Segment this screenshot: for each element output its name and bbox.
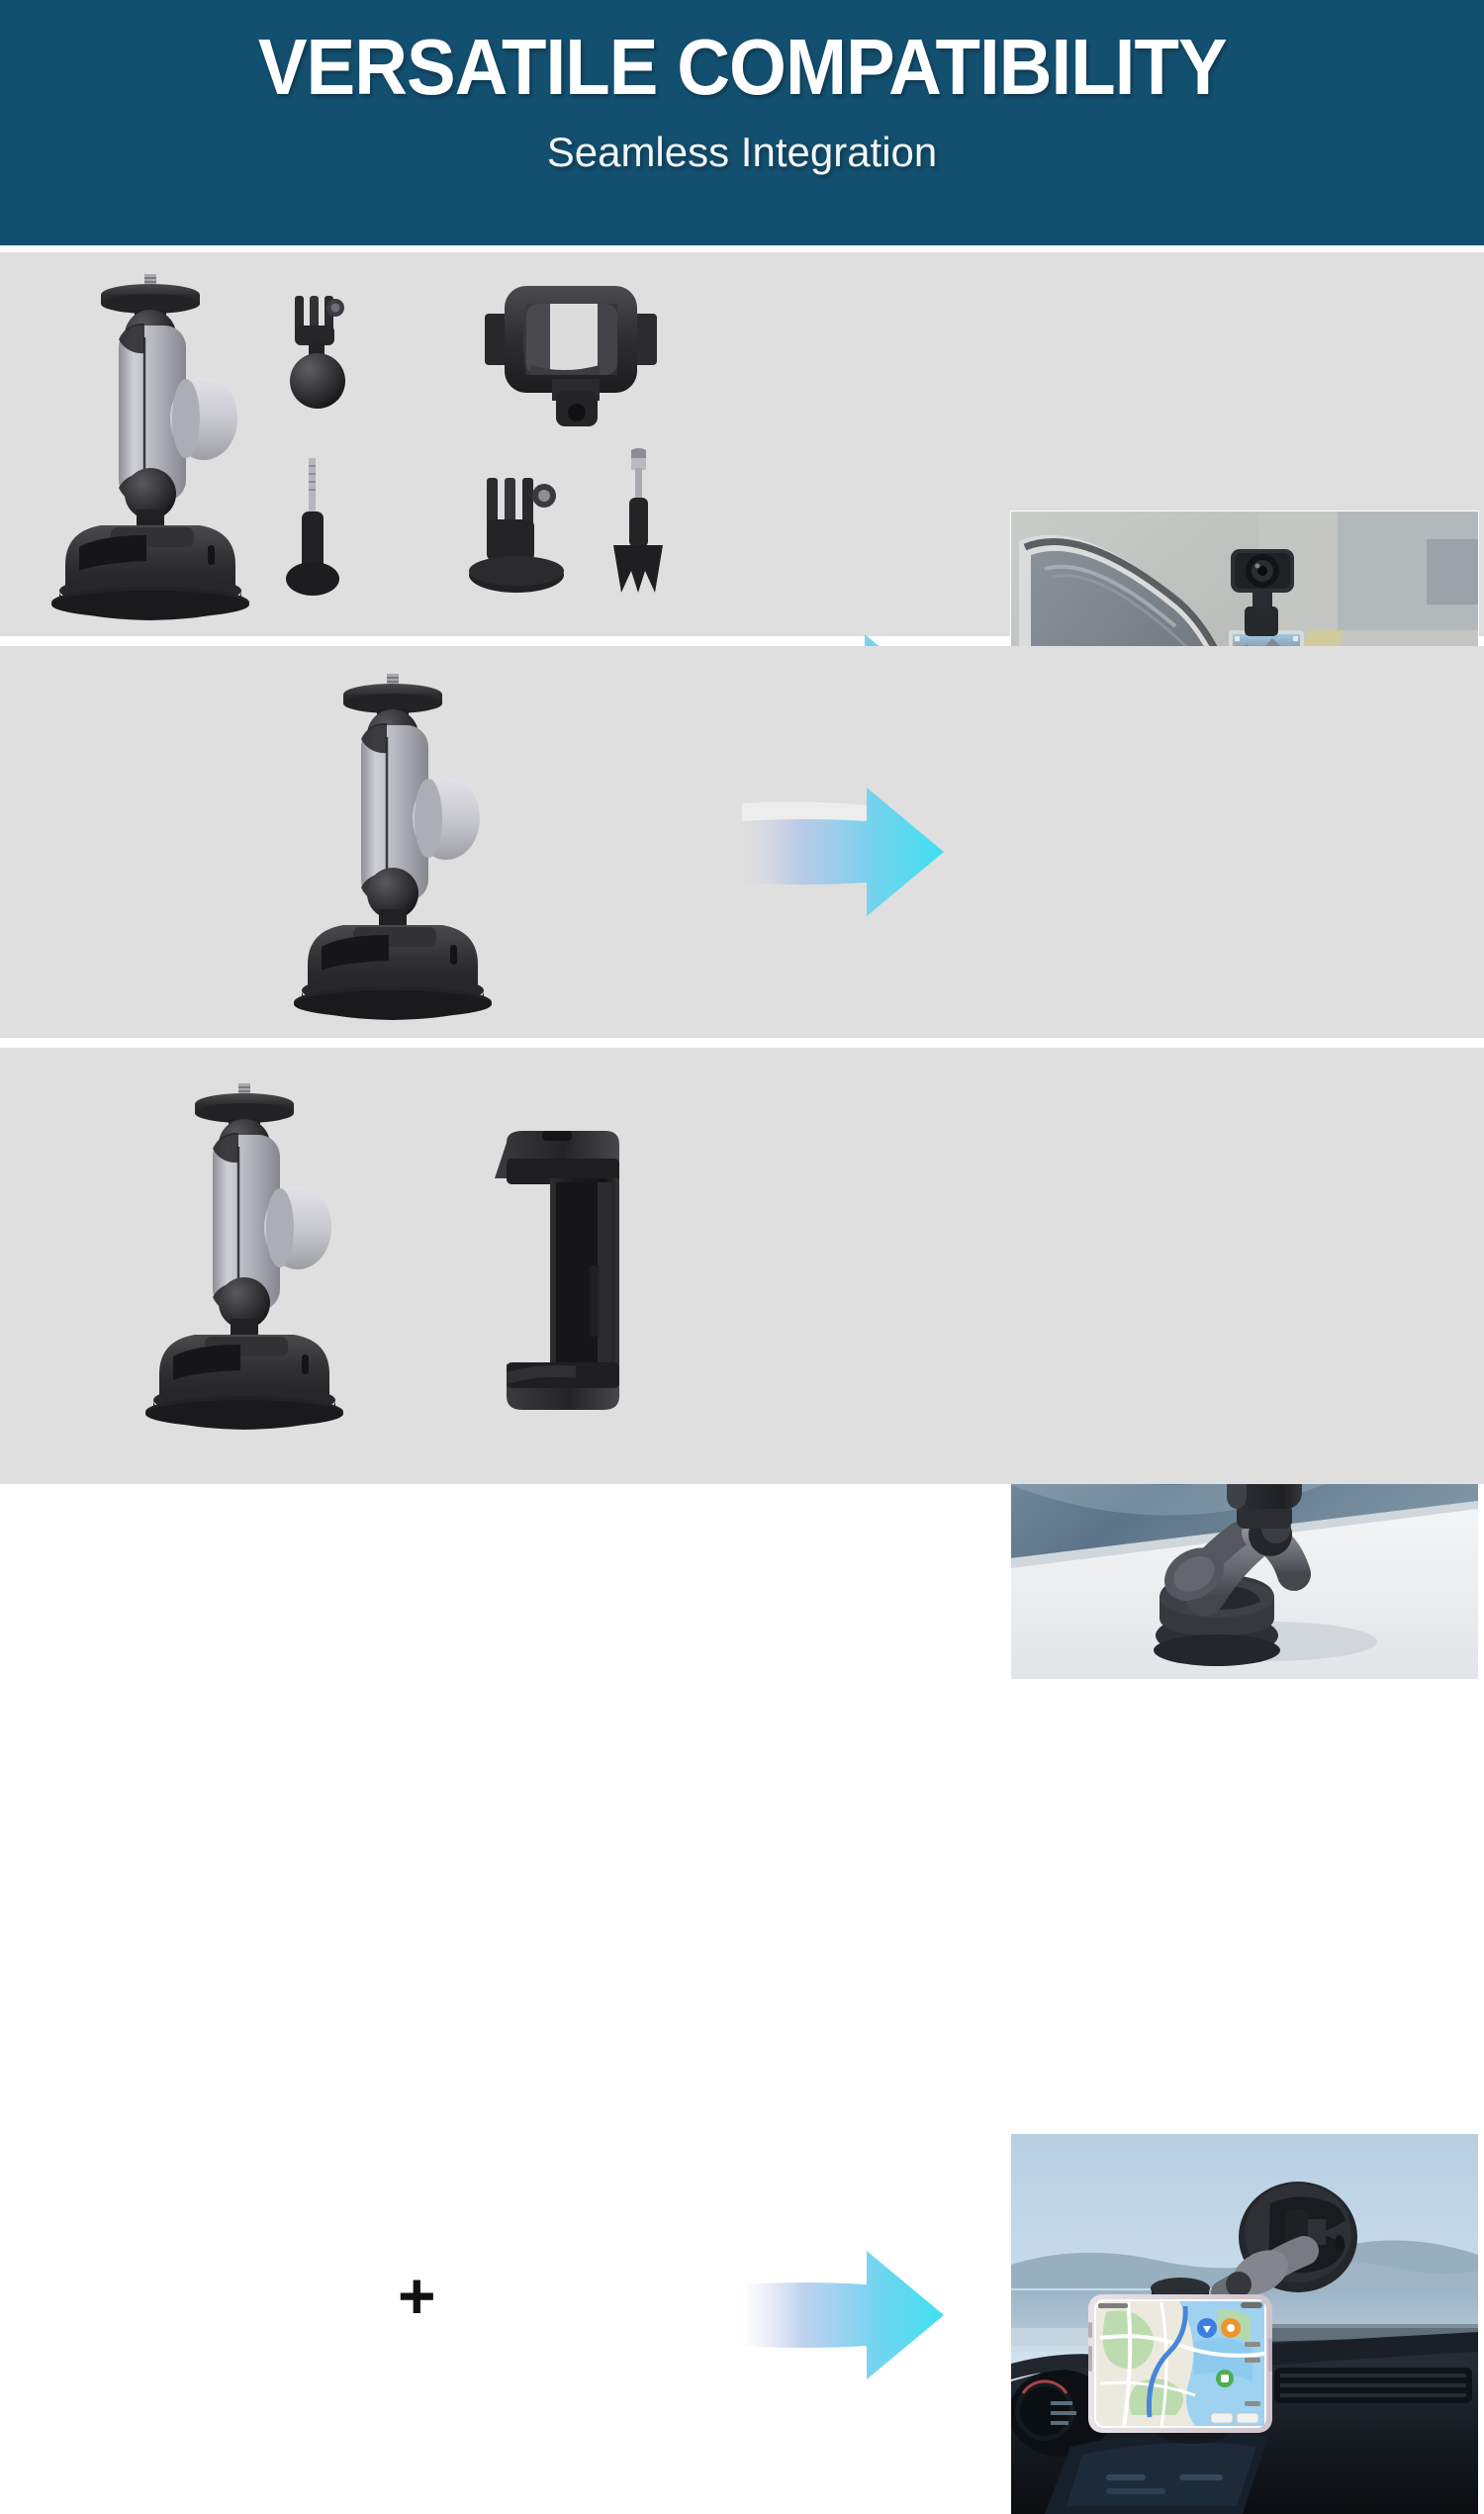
combine-plus-row-3: + (398, 2263, 436, 2328)
ball-head-gopro-adapter (277, 290, 366, 428)
tripod-mount-adapter (465, 472, 580, 599)
photo-phone-on-windshield-navigation (1011, 2134, 1478, 2514)
header-banner: VERSATILE COMPATIBILITY Seamless Integra… (0, 0, 1484, 245)
row-1-parts-area: + (0, 252, 999, 636)
action-camera-cage (479, 280, 663, 448)
right-arrow-icon (742, 2227, 989, 2403)
suction-cup-mount (280, 668, 508, 1034)
page-title: VERSATILE COMPATIBILITY (258, 26, 1227, 109)
product-row-1: + (0, 252, 1484, 636)
suction-cup-mount (38, 268, 265, 634)
row-3-parts-area: + (0, 1048, 999, 1484)
product-row-2 (0, 646, 1484, 1038)
product-row-3: + (0, 1048, 1484, 1484)
suction-cup-mount (132, 1077, 359, 1443)
right-arrow-icon (742, 764, 989, 940)
thumbscrew (607, 446, 669, 599)
page-subtitle: Seamless Integration (547, 129, 938, 176)
infographic-page: VERSATILE COMPATIBILITY Seamless Integra… (0, 0, 1484, 1484)
screw-pin (281, 456, 346, 597)
phone-clamp (495, 1127, 633, 1414)
